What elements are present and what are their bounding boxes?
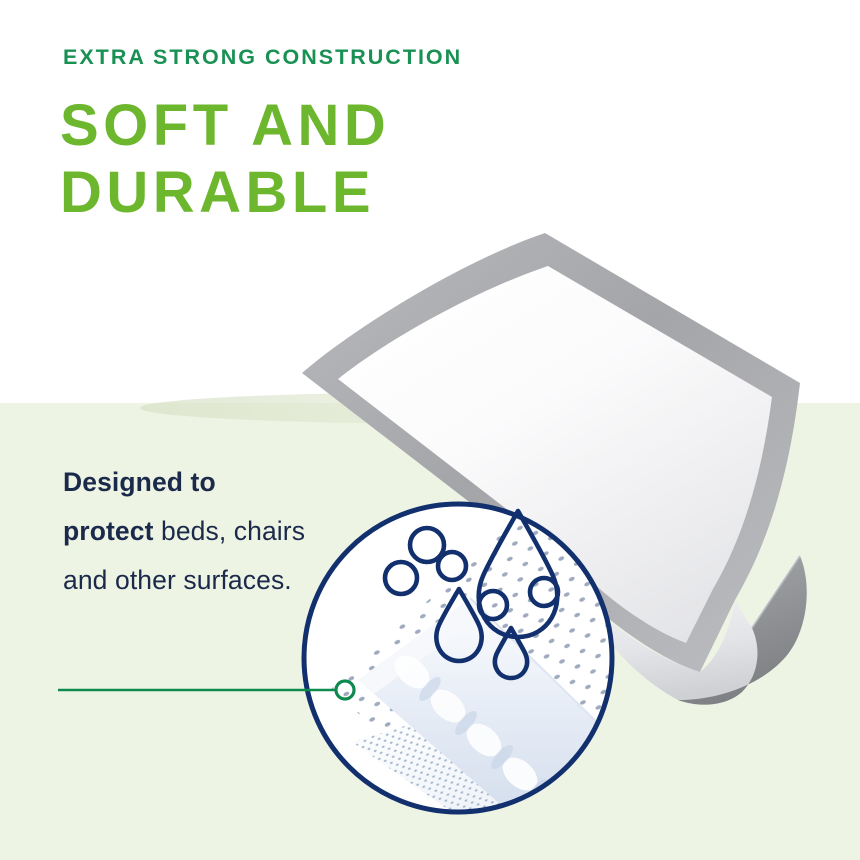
callout-text: Designed to protect beds, chairs and oth… bbox=[63, 458, 313, 605]
eyebrow-text: EXTRA STRONG CONSTRUCTION bbox=[63, 45, 462, 70]
marketing-graphic: EXTRA STRONG CONSTRUCTION SOFT AND DURAB… bbox=[0, 0, 860, 860]
callout-text-bold-1: Designed to bbox=[63, 467, 216, 497]
callout-text-bold-2: protect bbox=[63, 516, 154, 546]
page-title: SOFT AND DURABLE bbox=[60, 92, 390, 226]
